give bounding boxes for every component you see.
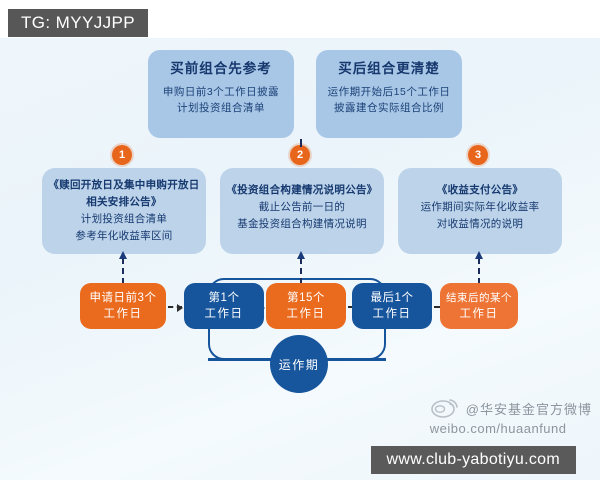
timeline-node-3-line-1: 第15个 <box>287 290 325 306</box>
site-watermark-tag: www.club-yabotiyu.com <box>371 446 576 474</box>
timeline-node-application-day[interactable]: 申请日前3个 工作日 <box>80 283 166 329</box>
step-number-1: 1 <box>112 145 132 165</box>
timeline-node-fifteenth-working-day[interactable]: 第15个 工作日 <box>266 283 346 329</box>
tg-watermark-tag: TG: MYYJJPP <box>8 9 148 37</box>
weibo-url-text: weibo.com/huaanfund <box>430 421 592 436</box>
timeline-node-5-line-2: 工作日 <box>460 306 499 322</box>
step-number-3: 3 <box>468 145 488 165</box>
timeline-node-2-line-1: 第1个 <box>209 290 240 306</box>
weibo-logo-icon <box>430 397 460 419</box>
timeline-node-1-line-2: 工作日 <box>104 306 143 322</box>
diagram-root: TG: MYYJJPP 买前组合先参考 申购日前3个工作日披露 计划投资组合清单… <box>0 0 600 480</box>
top-card-2-line-1: 运作期开始后15个工作日 <box>316 84 462 100</box>
info-card-1-line-3: 计划投资组合清单 <box>42 211 206 228</box>
info-card-1-line-1: 《赎回开放日及集中申购开放日 <box>42 177 206 194</box>
timeline-node-2-line-2: 工作日 <box>205 306 244 322</box>
connector-up-arrow-2 <box>300 258 302 284</box>
info-card-1-line-2: 相关安排公告》 <box>42 194 206 211</box>
info-card-3-line-1: 《收益支付公告》 <box>398 182 562 199</box>
weibo-handle-text: @华安基金官方微博 <box>466 399 592 418</box>
info-card-3: 《收益支付公告》 运作期间实际年化收益率 对收益情况的说明 <box>398 168 562 254</box>
top-card-1-title: 买前组合先参考 <box>148 60 294 78</box>
connector-node-1-to-2 <box>168 306 182 308</box>
top-card-2-title: 买后组合更清楚 <box>316 60 462 78</box>
timeline-node-5-line-1: 结束后的某个 <box>446 290 512 306</box>
step-number-2: 2 <box>290 145 310 165</box>
connector-top-card-2-stub <box>300 139 302 147</box>
timeline-node-1-line-1: 申请日前3个 <box>90 290 157 306</box>
info-card-2-line-2: 截止公告前一日的 <box>220 199 384 216</box>
weibo-watermark: @华安基金官方微博 weibo.com/huaanfund <box>430 397 592 436</box>
operation-period-circle[interactable]: 运作期 <box>270 335 328 393</box>
weibo-handle-row: @华安基金官方微博 <box>430 397 592 419</box>
top-card-1-line-2: 计划投资组合清单 <box>148 100 294 116</box>
arrow-head-icon <box>297 251 305 259</box>
info-card-2: 《投资组合构建情况说明公告》 截止公告前一日的 基金投资组合构建情况说明 <box>220 168 384 254</box>
arrow-head-icon <box>119 251 127 259</box>
arrow-head-icon <box>475 251 483 259</box>
timeline-node-first-working-day[interactable]: 第1个 工作日 <box>184 283 264 329</box>
timeline-node-3-line-2: 工作日 <box>287 306 326 322</box>
top-card-2-line-2: 披露建仓实际组合比例 <box>316 100 462 116</box>
info-card-3-line-3: 对收益情况的说明 <box>398 216 562 233</box>
info-card-1-line-4: 参考年化收益率区间 <box>42 228 206 245</box>
timeline-node-last-working-day[interactable]: 最后1个 工作日 <box>352 283 432 329</box>
info-card-2-line-3: 基金投资组合构建情况说明 <box>220 216 384 233</box>
top-card-2: 买后组合更清楚 运作期开始后15个工作日 披露建仓实际组合比例 <box>316 50 462 138</box>
info-card-1: 《赎回开放日及集中申购开放日 相关安排公告》 计划投资组合清单 参考年化收益率区… <box>42 168 206 254</box>
info-card-3-line-2: 运作期间实际年化收益率 <box>398 199 562 216</box>
timeline-node-4-line-2: 工作日 <box>373 306 412 322</box>
info-card-2-line-1: 《投资组合构建情况说明公告》 <box>220 182 384 199</box>
timeline-node-4-line-1: 最后1个 <box>371 290 414 306</box>
timeline-node-after-end-day[interactable]: 结束后的某个 工作日 <box>440 283 518 329</box>
arrow-head-icon <box>177 304 183 312</box>
connector-up-arrow-1 <box>122 258 124 284</box>
top-card-1-line-1: 申购日前3个工作日披露 <box>148 84 294 100</box>
top-card-1: 买前组合先参考 申购日前3个工作日披露 计划投资组合清单 <box>148 50 294 138</box>
connector-up-arrow-3 <box>478 258 480 284</box>
